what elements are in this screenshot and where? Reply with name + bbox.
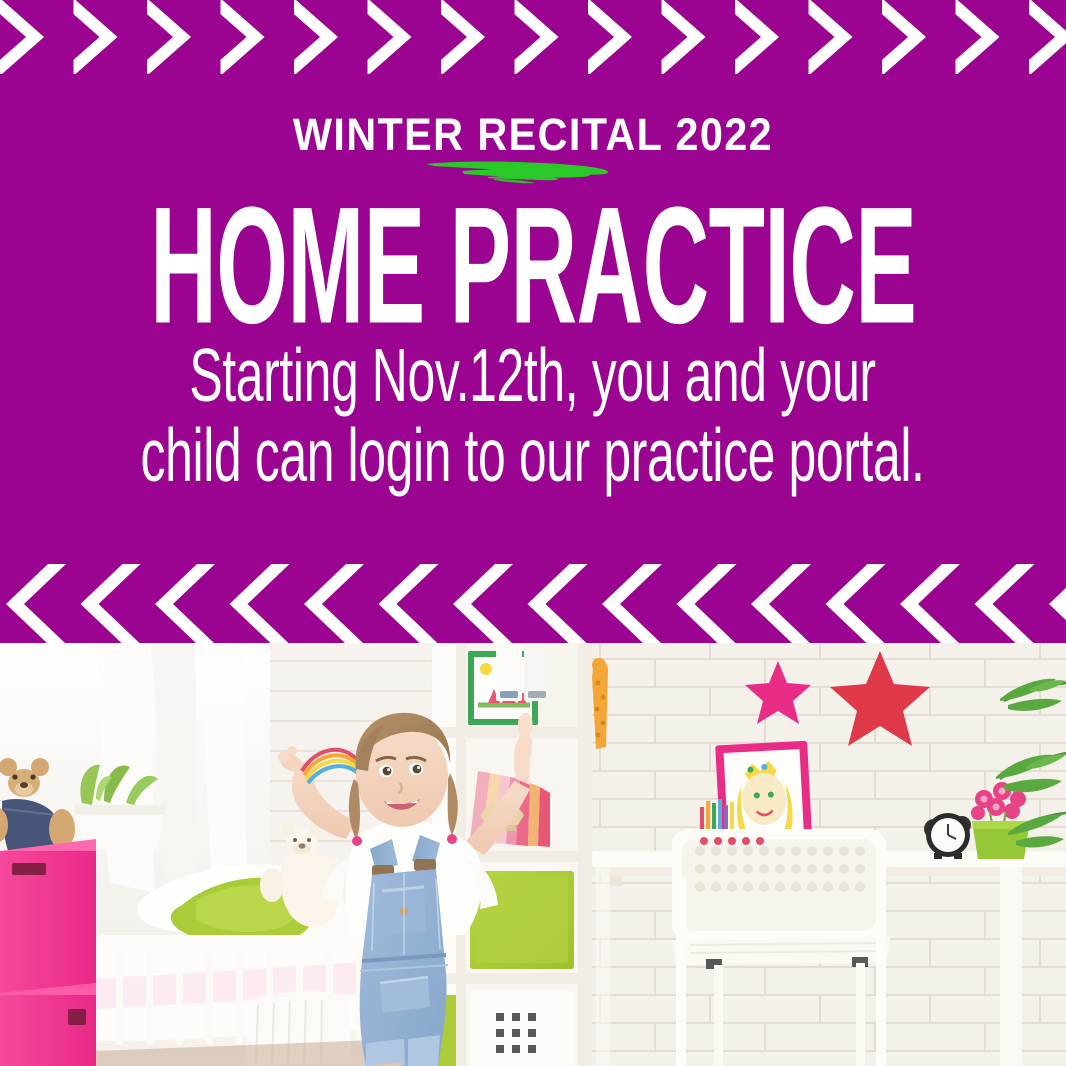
- kicker-group: WINTER RECITAL 2022: [272, 112, 794, 157]
- page-title: HOME PRACTICE: [150, 189, 916, 342]
- bedroom-photo: [0, 643, 1066, 1066]
- kicker-text: WINTER RECITAL 2022: [293, 112, 773, 157]
- purple-banner: WINTER RECITAL 2022 HOME PRACTICE Starti…: [0, 0, 1066, 644]
- subtitle-line-1: Starting Nov.12th, you and your: [141, 336, 925, 416]
- subtitle-line-2: child can login to our practice portal.: [141, 416, 925, 496]
- banner-text-block: WINTER RECITAL 2022 HOME PRACTICE Starti…: [0, 0, 1066, 644]
- subtitle-group: Starting Nov.12th, you and your child ca…: [141, 336, 925, 496]
- poster-canvas: WINTER RECITAL 2022 HOME PRACTICE Starti…: [0, 0, 1066, 1066]
